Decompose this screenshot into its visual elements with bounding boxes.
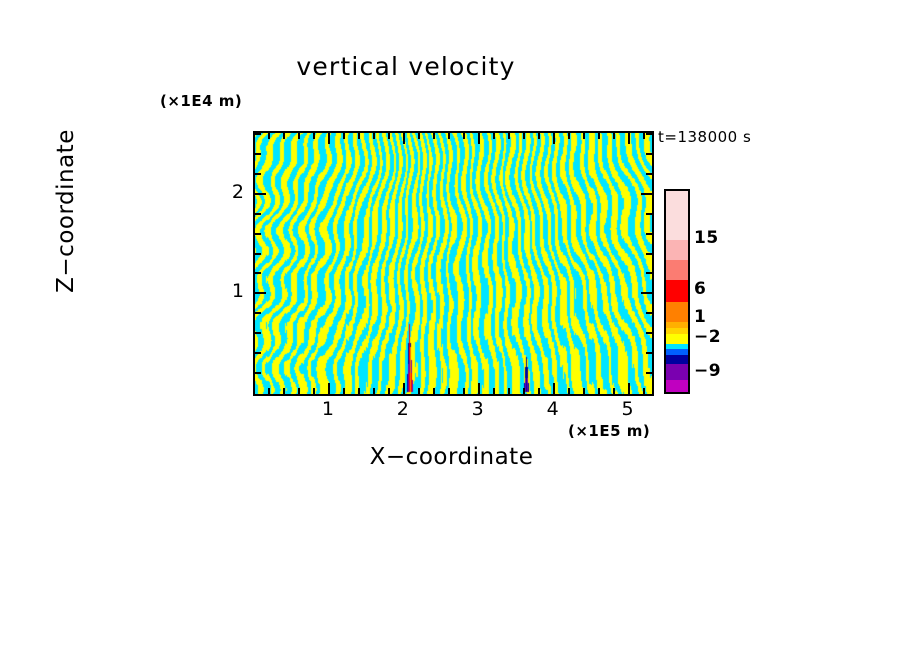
colorbar-band <box>666 364 688 380</box>
plot-area <box>253 131 654 396</box>
axis-tick <box>646 272 652 274</box>
y-axis-unit-label: (×1E4 m) <box>160 92 242 110</box>
axis-tick <box>343 133 345 139</box>
axis-tick <box>643 133 645 139</box>
axis-tick <box>478 133 480 144</box>
axis-tick <box>255 193 266 195</box>
axis-tick <box>283 388 285 394</box>
axis-tick <box>255 133 261 135</box>
page-title: vertical velocity <box>0 52 858 81</box>
axis-tick <box>523 133 525 139</box>
axis-tick <box>641 292 652 294</box>
axis-tick <box>646 312 652 314</box>
axis-tick <box>403 133 405 144</box>
axis-tick <box>343 388 345 394</box>
axis-tick <box>255 272 261 274</box>
colorbar-band <box>666 355 688 364</box>
axis-tick <box>298 133 300 139</box>
axis-tick <box>268 388 270 394</box>
axis-tick <box>313 133 315 139</box>
axis-tick <box>388 133 390 139</box>
x-tick-label-5: 5 <box>608 398 648 420</box>
colorbar-label-1: 6 <box>694 279 706 299</box>
axis-tick <box>598 388 600 394</box>
colorbar <box>664 189 690 394</box>
axis-tick <box>493 388 495 394</box>
colorbar-label-0: 15 <box>694 228 719 248</box>
axis-tick <box>313 388 315 394</box>
axis-tick <box>298 388 300 394</box>
axis-tick <box>568 388 570 394</box>
x-axis-unit-label: (×1E5 m) <box>568 422 650 440</box>
colorbar-band <box>666 334 688 344</box>
axis-tick <box>598 133 600 139</box>
axis-tick <box>613 388 615 394</box>
axis-tick <box>268 133 270 139</box>
axis-tick <box>493 133 495 139</box>
axis-tick <box>553 383 555 394</box>
axis-tick <box>641 193 652 195</box>
axis-tick <box>283 133 285 139</box>
axis-tick <box>538 133 540 139</box>
axis-tick <box>328 133 330 144</box>
x-axis-title: X−coordinate <box>253 444 650 470</box>
axis-tick <box>646 133 652 135</box>
axis-tick <box>628 383 630 394</box>
colorbar-label-2: 1 <box>694 307 706 327</box>
colorbar-label-3: −2 <box>694 327 721 347</box>
axis-tick <box>403 383 405 394</box>
axis-tick <box>646 253 652 255</box>
y-axis-title: Z−coordinate <box>53 111 79 311</box>
axis-tick <box>255 173 261 175</box>
axis-tick <box>255 312 261 314</box>
axis-tick <box>643 388 645 394</box>
axis-tick <box>255 153 261 155</box>
axis-tick <box>646 153 652 155</box>
axis-tick <box>613 133 615 139</box>
axis-tick <box>388 388 390 394</box>
axis-tick <box>646 352 652 354</box>
axis-tick <box>418 388 420 394</box>
axis-tick <box>523 388 525 394</box>
axis-tick <box>255 213 261 215</box>
axis-tick <box>433 133 435 139</box>
axis-tick <box>433 388 435 394</box>
time-annotation: t=138000 s <box>658 128 751 146</box>
axis-tick <box>508 133 510 139</box>
axis-tick <box>448 133 450 139</box>
axis-tick <box>255 233 261 235</box>
axis-tick <box>646 213 652 215</box>
axis-tick <box>583 133 585 139</box>
axis-tick <box>418 133 420 139</box>
colorbar-label-4: −9 <box>694 361 721 381</box>
x-tick-label-1: 1 <box>308 398 348 420</box>
axis-tick <box>646 332 652 334</box>
colorbar-band <box>666 280 688 302</box>
colorbar-band <box>666 260 688 280</box>
axis-tick <box>478 383 480 394</box>
axis-tick <box>255 253 261 255</box>
colorbar-band <box>666 240 688 260</box>
axis-tick <box>538 388 540 394</box>
colorbar-band <box>666 302 688 322</box>
x-tick-label-2: 2 <box>383 398 423 420</box>
axis-tick <box>255 352 261 354</box>
axis-tick <box>448 388 450 394</box>
axis-tick <box>568 133 570 139</box>
y-tick-label-2: 2 <box>218 181 244 203</box>
axis-tick <box>255 292 266 294</box>
x-tick-label-3: 3 <box>458 398 498 420</box>
axis-tick <box>553 133 555 144</box>
axis-tick <box>646 173 652 175</box>
axis-tick <box>646 372 652 374</box>
axis-tick <box>255 372 261 374</box>
axis-tick <box>358 388 360 394</box>
axis-tick <box>583 388 585 394</box>
axis-tick <box>628 133 630 144</box>
colorbar-band <box>666 191 688 240</box>
axis-tick <box>328 383 330 394</box>
colorbar-band <box>666 380 688 394</box>
axis-tick <box>508 388 510 394</box>
axis-tick <box>463 133 465 139</box>
y-tick-label-1: 1 <box>218 280 244 302</box>
axis-tick <box>463 388 465 394</box>
x-tick-label-4: 4 <box>533 398 573 420</box>
contour-field <box>255 133 652 394</box>
axis-tick <box>255 332 261 334</box>
axis-tick <box>646 233 652 235</box>
axis-tick <box>373 388 375 394</box>
axis-tick <box>373 133 375 139</box>
axis-tick <box>358 133 360 139</box>
